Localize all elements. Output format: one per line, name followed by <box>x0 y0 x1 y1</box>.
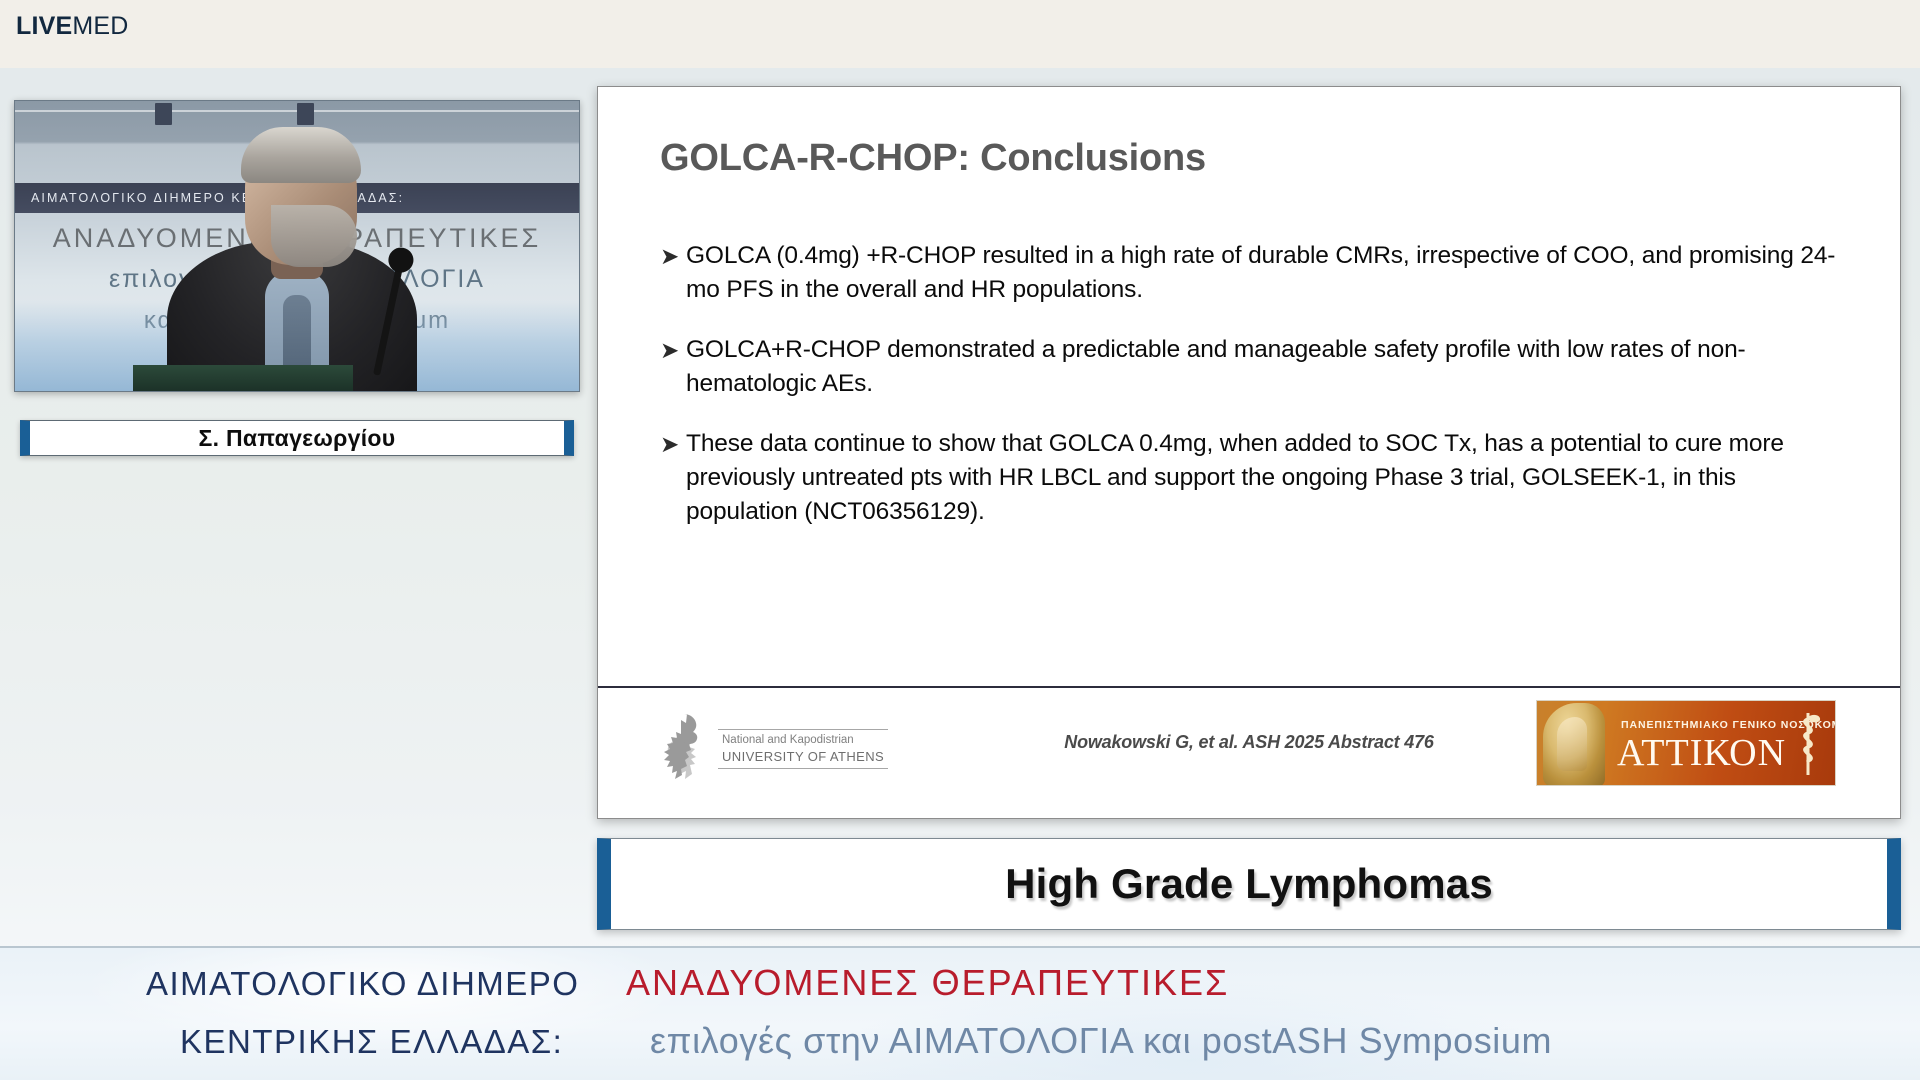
bullet-text: GOLCA+R-CHOP demonstrated a predictable … <box>686 333 1854 401</box>
attikon-statue-graphic <box>1543 703 1605 786</box>
bullet-arrow-icon: ➤ <box>660 239 686 273</box>
speaker-hair <box>241 127 361 183</box>
congress-line1-left: ΑΙΜΑΤΟΛΟΓΙΚΟ ΔΙΗΜΕΡΟ <box>146 965 626 1003</box>
bullet-arrow-icon: ➤ <box>660 333 686 367</box>
bullet-item: ➤ GOLCA (0.4mg) +R-CHOP resulted in a hi… <box>660 239 1854 307</box>
podium <box>133 365 353 391</box>
speaker-nameplate: Σ. Παπαγεωργίου <box>20 420 574 456</box>
bullet-arrow-icon: ➤ <box>660 427 686 461</box>
attikon-subtitle: ΠΑΝΕΠΙΣΤΗΜΙΑΚΟ ΓΕΝΙΚΟ ΝΟΣΟΚΟΜΕΙΟ <box>1621 719 1777 731</box>
congress-line-1: ΑΙΜΑΤΟΛΟΓΙΚΟ ΔΙΗΜΕΡΟ ΑΝΑΔΥΟΜΕΝΕΣ ΘΕΡΑΠΕΥ… <box>0 962 1920 1004</box>
presentation-slide[interactable]: GOLCA-R-CHOP: Conclusions ➤ GOLCA (0.4mg… <box>597 86 1901 819</box>
congress-line1-right: ΑΝΑΔΥΟΜΕΝΕΣ ΘΕΡΑΠΕΥΤΙΚΕΣ <box>626 962 1229 1004</box>
congress-line2-right: επιλογές στην ΑΙΜΑΤΟΛΟΓΙΑ και postASH Sy… <box>650 1020 1552 1062</box>
speaker-beard <box>271 205 357 267</box>
slide-title: GOLCA-R-CHOP: Conclusions <box>660 137 1206 180</box>
bullet-item: ➤ GOLCA+R-CHOP demonstrated a predictabl… <box>660 333 1854 401</box>
top-header-bar: LIVEMED <box>0 0 1920 68</box>
session-title-bar: High Grade Lymphomas <box>597 838 1901 930</box>
brand-secondary-text: MED <box>72 12 128 40</box>
congress-banner: ΑΙΜΑΤΟΛΟΓΙΚΟ ΔΙΗΜΕΡΟ ΑΝΑΔΥΟΜΕΝΕΣ ΘΕΡΑΠΕΥ… <box>0 946 1920 1080</box>
attikon-wordmark: ΑΤΤΙΚΟΝ <box>1617 731 1783 775</box>
congress-line2-left: ΚΕΝΤΡΙΚΗΣ ΕΛΛΑΔΑΣ: <box>180 1023 650 1061</box>
bullet-item: ➤ These data continue to show that GOLCA… <box>660 427 1854 529</box>
speaker-figure <box>167 129 417 391</box>
speaker-name-label: Σ. Παπαγεωργίου <box>199 425 396 452</box>
slide-footer: National and Kapodistrian UNIVERSITY OF … <box>598 688 1900 818</box>
slide-bullet-list: ➤ GOLCA (0.4mg) +R-CHOP resulted in a hi… <box>660 239 1854 555</box>
bullet-text: GOLCA (0.4mg) +R-CHOP resulted in a high… <box>686 239 1854 307</box>
rod-of-asclepius-icon <box>1791 711 1825 777</box>
brand-primary-text: LIVE <box>16 12 72 40</box>
session-title: High Grade Lymphomas <box>1005 860 1493 908</box>
backdrop-clip-left: Ο <box>155 103 172 125</box>
backdrop-clip-left-label: Ο <box>158 100 164 102</box>
speaker-video-thumbnail[interactable]: Ο Σ ΑΙΜΑΤΟΛΟΓΙΚΟ ΔΙΗΜΕΡΟ ΚΕΝΤΡΙΚΗΣ ΕΛΛΑΔ… <box>14 100 580 392</box>
backdrop-clip-right-label: Σ <box>300 100 305 102</box>
livemed-logo[interactable]: LIVEMED <box>16 14 129 39</box>
attikon-hospital-logo: ΠΑΝΕΠΙΣΤΗΜΙΑΚΟ ΓΕΝΙΚΟ ΝΟΣΟΚΟΜΕΙΟ ΑΤΤΙΚΟΝ <box>1536 700 1836 786</box>
backdrop-clip-right: Σ <box>297 103 314 125</box>
bullet-text: These data continue to show that GOLCA 0… <box>686 427 1854 529</box>
congress-line-2: ΚΕΝΤΡΙΚΗΣ ΕΛΛΑΔΑΣ: επιλογές στην ΑΙΜΑΤΟΛ… <box>0 1020 1920 1062</box>
